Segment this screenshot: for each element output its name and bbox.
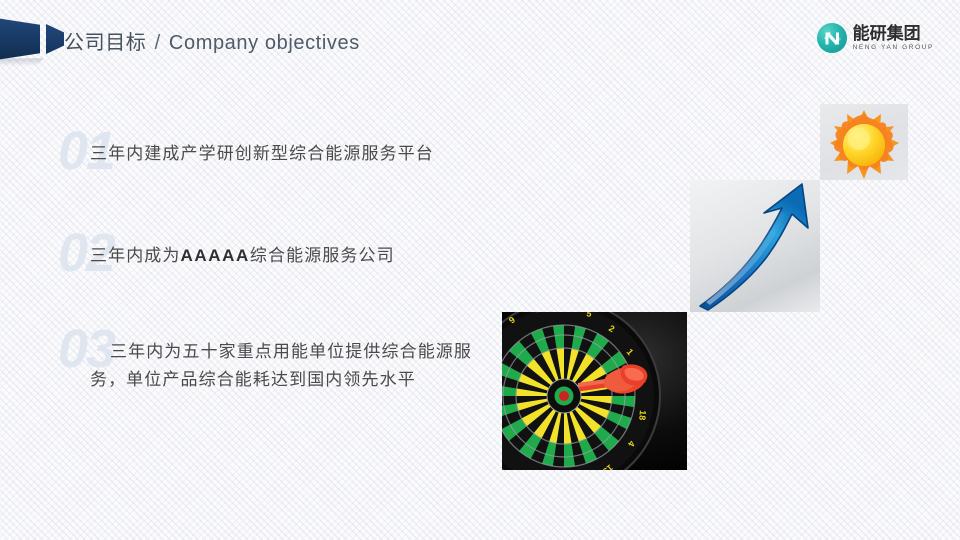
objective-text-2-after: 综合能源服务公司 <box>250 246 395 265</box>
objective-item-3: 03 三年内为五十家重点用能单位提供综合能源服务，单位产品综合能耗达到国内领先水… <box>58 338 528 393</box>
ribbon-main-shape <box>0 18 40 60</box>
objective-text-2-before: 三年内成为 <box>90 246 181 265</box>
objective-text-1: 三年内建成产学研创新型综合能源服务平台 <box>90 140 528 168</box>
page-title: 公司目标 / Company objectives <box>64 26 360 55</box>
objective-text-2-emphasis: AAAAA <box>181 246 250 265</box>
company-logo: 能研集团 NENG YAN GROUP <box>817 22 934 54</box>
sun-photo <box>820 104 908 180</box>
objective-item-1: 01 三年内建成产学研创新型综合能源服务平台 <box>58 140 528 168</box>
slide-canvas: 公司目标 / Company objectives 能研集团 NENG YAN … <box>0 0 960 540</box>
ribbon-arrow-tip <box>46 24 64 54</box>
logo-name-en: NENG YAN GROUP <box>853 45 934 52</box>
objective-text-2: 三年内成为AAAAA综合能源服务公司 <box>90 242 528 270</box>
logo-name-cn: 能研集团 <box>853 25 934 42</box>
logo-text-block: 能研集团 NENG YAN GROUP <box>853 25 934 52</box>
objective-text-3: 三年内为五十家重点用能单位提供综合能源服务，单位产品综合能耗达到国内领先水平 <box>90 338 490 393</box>
page-title-cn: 公司目标 <box>64 32 146 54</box>
page-title-separator: / <box>153 32 163 54</box>
nengyan-group-logo-icon <box>817 23 847 53</box>
objective-item-2: 02 三年内成为AAAAA综合能源服务公司 <box>58 242 528 270</box>
ribbon-shadow <box>0 58 44 66</box>
svg-text:18: 18 <box>637 410 648 421</box>
growth-arrow-photo <box>690 180 820 312</box>
dartboard-photo: 9 6 12 5 2 1 7 18 4 13 <box>502 312 687 470</box>
page-title-en: Company objectives <box>169 32 360 54</box>
title-ribbon-decoration <box>0 18 64 60</box>
